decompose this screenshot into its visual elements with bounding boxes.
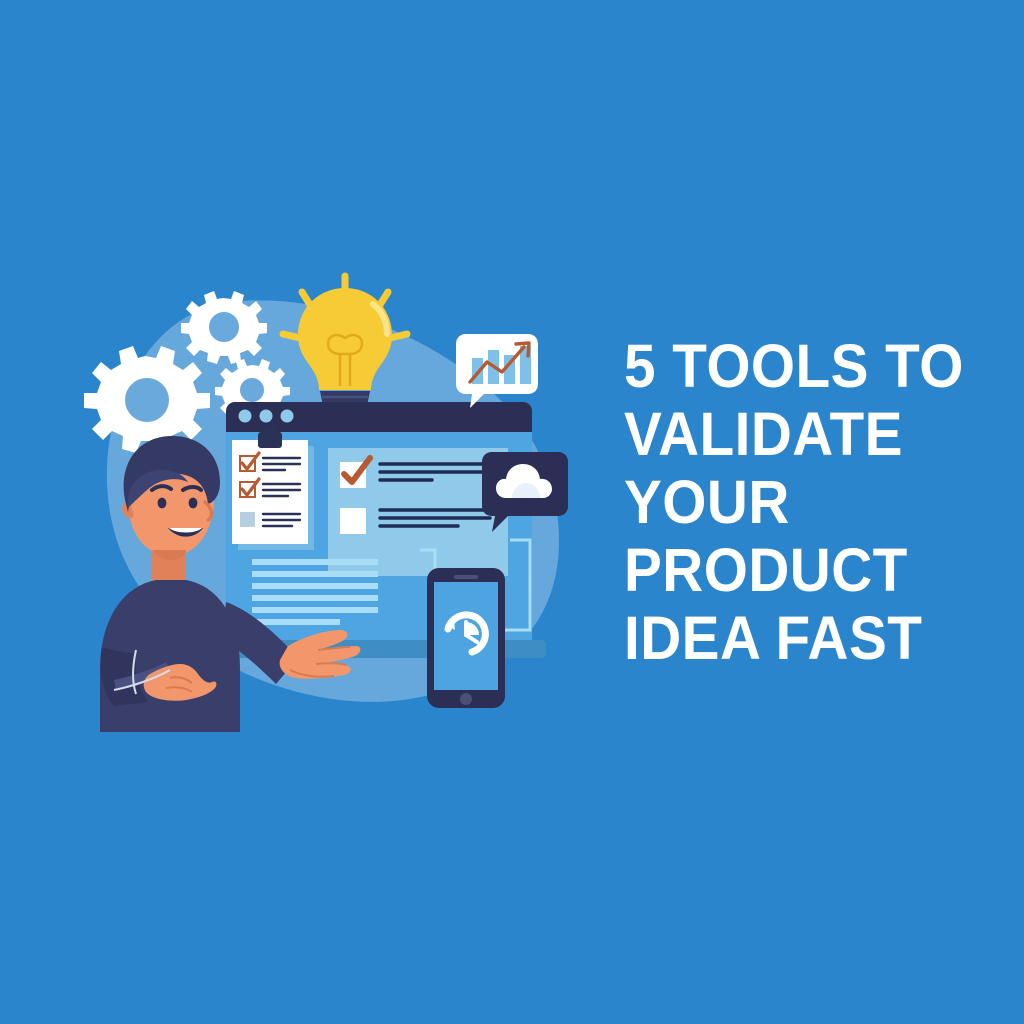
headline-line-1: 5 TOOLS TO [624, 332, 977, 400]
checklist-clipboard [232, 426, 314, 550]
promo-banner: 5 TOOLS TO VALIDATE YOUR PRODUCT IDEA FA… [0, 0, 1024, 1024]
phone-speaker [454, 575, 478, 579]
survey-checkbox-panel [328, 448, 508, 576]
browser-window-dots [239, 410, 294, 423]
headline-line-2: VALIDATE [624, 400, 977, 468]
mobile-phone [427, 568, 505, 708]
headline-line-3: YOUR [624, 468, 977, 536]
headline: 5 TOOLS TO VALIDATE YOUR PRODUCT IDEA FA… [624, 332, 1004, 672]
clipboard-clip [258, 432, 282, 448]
survey-checkbox-unchecked [340, 508, 366, 534]
headline-line-5: IDEA FAST [624, 604, 977, 672]
clipboard-checkbox-3 [240, 512, 255, 527]
product-validation-illustration [40, 250, 600, 750]
phone-home-button [460, 693, 472, 705]
headline-line-4: PRODUCT [624, 536, 977, 604]
